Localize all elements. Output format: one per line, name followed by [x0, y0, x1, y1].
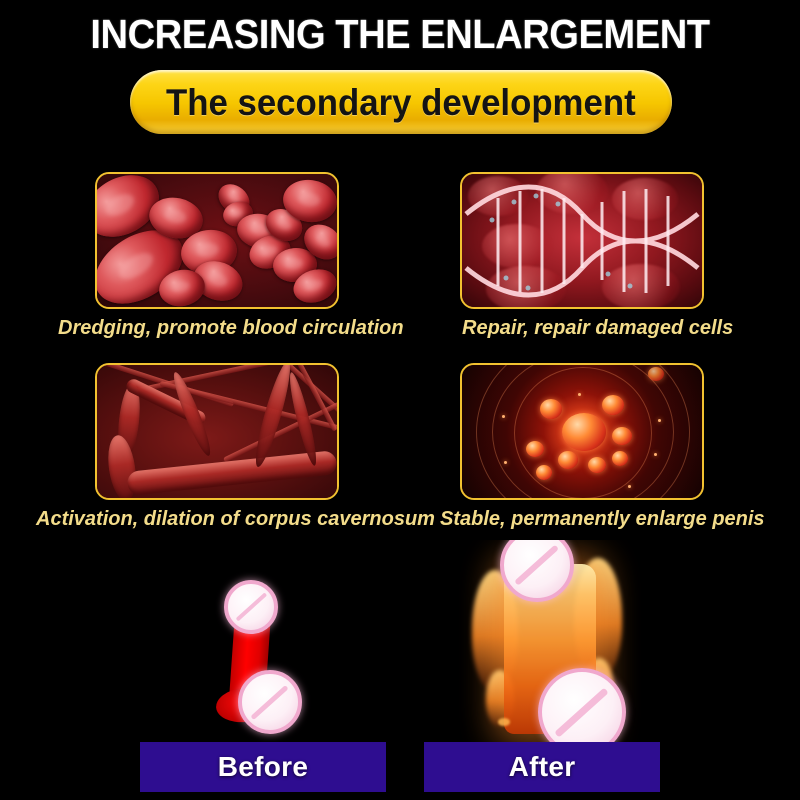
censor-icon: [238, 670, 302, 734]
red-blood-cells-image: [97, 174, 337, 307]
panel-cell-repair[interactable]: [460, 172, 704, 309]
panel-caption-2: Repair, repair damaged cells: [462, 317, 733, 339]
panel-stable-enlargement[interactable]: [460, 363, 704, 500]
censor-icon: [224, 580, 278, 634]
page-title: INCREASING THE ENLARGEMENT: [28, 12, 772, 56]
dna-helix-image: [462, 174, 702, 307]
panel-caption-1: Dredging, promote blood circulation: [58, 317, 404, 339]
before-red-silhouette-image: [176, 556, 366, 742]
after-flame-silhouette-image: [452, 540, 652, 742]
panel-blood-circulation[interactable]: [95, 172, 339, 309]
glowing-cell-image: [462, 365, 702, 498]
poster-root: INCREASING THE ENLARGEMENT The secondary…: [0, 0, 800, 800]
panel-caption-3: Activation, dilation of corpus cavernosu…: [36, 508, 435, 530]
after-label: After: [509, 751, 576, 783]
subtitle-pill-label: The secondary development: [166, 84, 636, 121]
panel-vessel-dilation[interactable]: [95, 363, 339, 500]
before-label: Before: [218, 751, 309, 783]
after-label-bar[interactable]: After: [424, 742, 660, 792]
subtitle-pill-button[interactable]: The secondary development: [130, 70, 672, 134]
dna-helix-icon: [462, 174, 702, 307]
before-label-bar[interactable]: Before: [140, 742, 386, 792]
panel-caption-4: Stable, permanently enlarge penis: [440, 508, 765, 530]
blood-vessels-image: [97, 365, 337, 498]
